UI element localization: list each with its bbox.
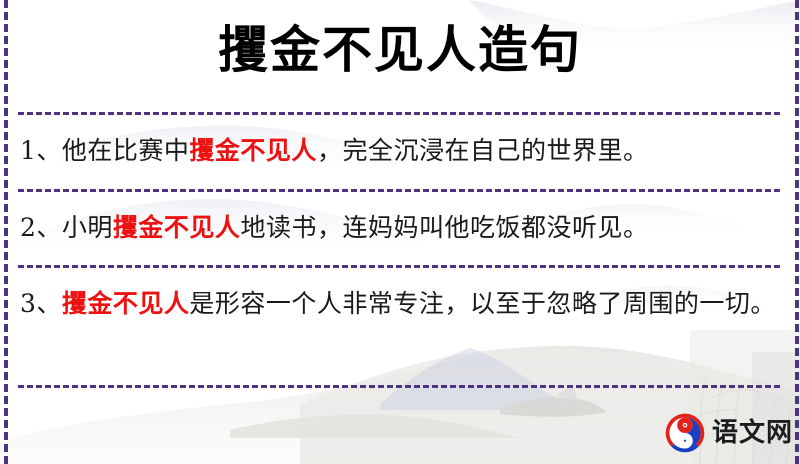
sentence-text-post-2: 地读书，连妈妈叫他吃饭都没听见。	[240, 213, 648, 242]
sentence-index-3: 3、	[20, 289, 62, 318]
sentence-text-post-1: ，完全沉浸在自己的世界里。	[317, 136, 649, 165]
slide-page: 攫金不见人造句 1、他在比赛中攫金不见人，完全沉浸在自己的世界里。 2、小明攫金…	[0, 0, 800, 464]
separator-line-4	[18, 385, 780, 388]
separator-line-2	[18, 189, 780, 192]
sentence-index-1: 1、	[20, 136, 62, 165]
sentence-item-2: 2、小明攫金不见人地读书，连妈妈叫他吃饭都没听见。	[20, 207, 776, 249]
site-logo[interactable]: 语文网	[664, 410, 790, 456]
idiom-highlight-1: 攫金不见人	[189, 136, 317, 165]
sentence-index-2: 2、	[20, 213, 62, 242]
sentence-text-post-3: 是形容一个人非常专注，以至于忽略了周围的一切。	[189, 289, 776, 318]
idiom-highlight-3: 攫金不见人	[62, 289, 190, 318]
site-logo-text: 语文网	[712, 419, 793, 447]
page-title: 攫金不见人造句	[0, 16, 800, 84]
taichi-yinyang-icon	[664, 412, 706, 454]
separator-line-1	[18, 112, 780, 115]
separator-line-3	[18, 265, 780, 268]
sentence-text-pre-2: 小明	[62, 213, 113, 242]
sentence-item-1: 1、他在比赛中攫金不见人，完全沉浸在自己的世界里。	[20, 130, 776, 172]
sentence-item-3: 3、攫金不见人是形容一个人非常专注，以至于忽略了周围的一切。	[20, 283, 776, 325]
idiom-highlight-2: 攫金不见人	[113, 213, 241, 242]
sentence-text-pre-1: 他在比赛中	[62, 136, 190, 165]
